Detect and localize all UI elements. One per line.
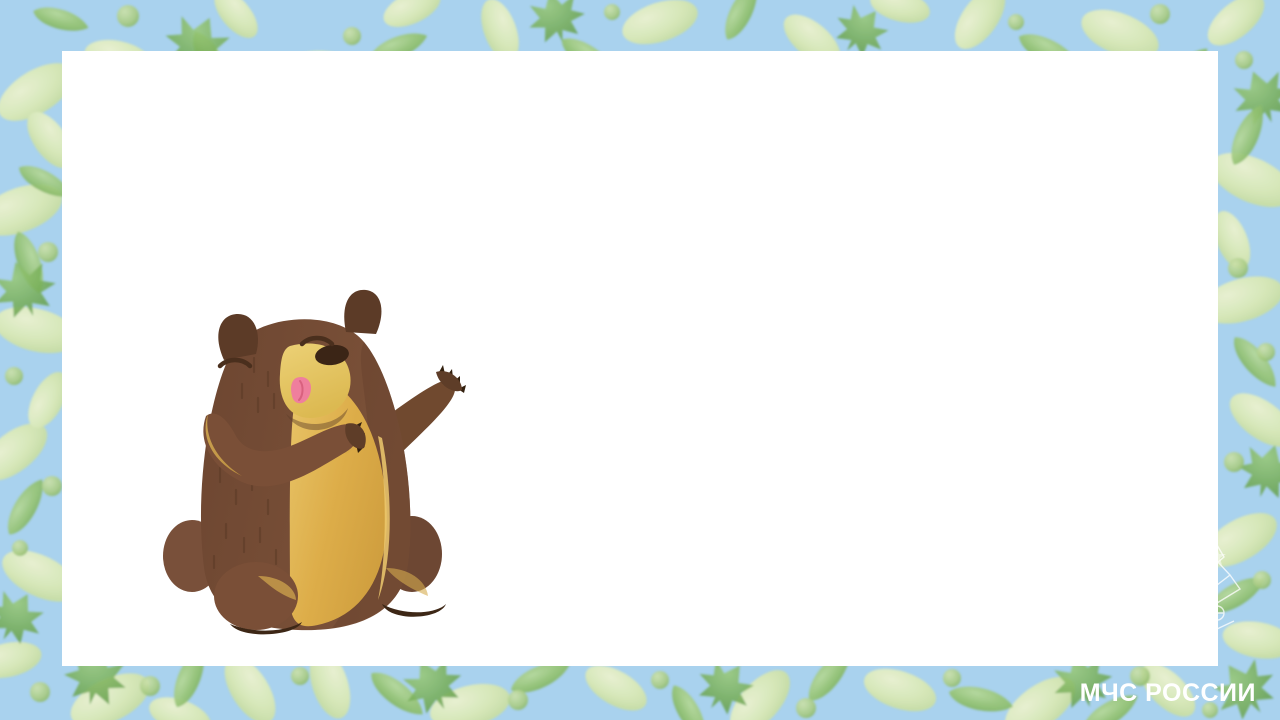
brand-footer: МЧС РОССИИ bbox=[1080, 679, 1256, 708]
slide-root: 6 ДИКИЕ ЖИВОТНЫЕ bbox=[0, 0, 1280, 720]
brand-label: МЧС РОССИИ bbox=[1080, 679, 1256, 708]
brown-bear-illustration bbox=[150, 238, 470, 642]
